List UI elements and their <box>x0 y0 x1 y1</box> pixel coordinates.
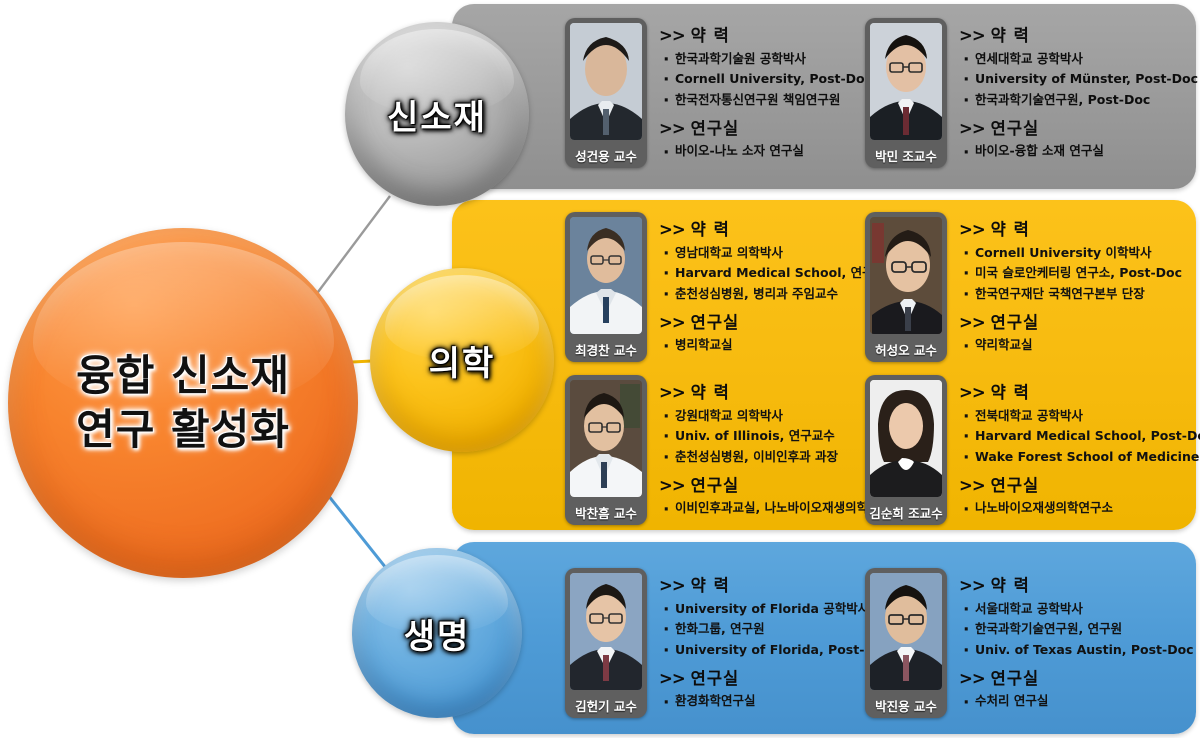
list-item: 서울대학교 공학박사 <box>959 599 1194 619</box>
lab-heading: >>연구실 <box>959 115 1198 139</box>
professor-info: >>약 력 연세대학교 공학박사 University of Münster, … <box>947 18 1198 166</box>
list-item: Harvard Medical School, Post-Doc <box>959 426 1200 446</box>
list-item: 수처리 연구실 <box>959 692 1194 711</box>
photo-frame: 최경찬 교수 <box>565 212 647 362</box>
list-item: Cornell University, Post-Doc <box>659 69 872 89</box>
chevron-icon: >> <box>659 26 685 45</box>
professor-photo <box>870 23 942 140</box>
professor-photo <box>870 573 942 690</box>
chevron-icon: >> <box>959 26 985 45</box>
list-item: 환경화학연구실 <box>659 692 891 711</box>
chevron-icon: >> <box>659 669 685 688</box>
list-item: 약리학교실 <box>959 336 1182 355</box>
list-item: University of Münster, Post-Doc <box>959 69 1198 89</box>
professor-name: 허성오 교수 <box>865 336 947 362</box>
portrait-icon <box>870 380 942 497</box>
list-item: 바이오-나노 소자 연구실 <box>659 142 872 161</box>
lab-list: 나노바이오재생의학연구소 <box>959 499 1200 518</box>
chevron-icon: >> <box>659 383 685 402</box>
professor-info: >>약 력 영남대학교 의학박사 Harvard Medical School,… <box>647 212 897 360</box>
photo-frame: 박민 조교수 <box>865 18 947 168</box>
chevron-icon: >> <box>959 669 985 688</box>
list-item: 춘천성심병원, 병리과 주임교수 <box>659 284 897 304</box>
portrait-icon <box>570 380 642 497</box>
list-item: 연세대학교 공학박사 <box>959 49 1198 69</box>
category-label-uihak: 의학 <box>429 336 496 385</box>
professor-card[interactable]: 박찬흠 교수 >>약 력 강원대학교 의학박사 Univ. of Illinoi… <box>565 375 903 525</box>
lab-list: 환경화학연구실 <box>659 692 891 711</box>
professor-photo <box>570 23 642 140</box>
professor-name: 박민 조교수 <box>865 142 947 168</box>
lab-list: 수처리 연구실 <box>959 692 1194 711</box>
professor-photo <box>570 573 642 690</box>
list-item: 한국과학기술원 공학박사 <box>659 49 872 69</box>
hub-circle[interactable]: 융합 신소재 연구 활성화 <box>8 228 358 578</box>
bio-heading: >>약 력 <box>959 379 1200 403</box>
list-item: 영남대학교 의학박사 <box>659 243 897 263</box>
lab-list: 약리학교실 <box>959 336 1182 355</box>
chevron-icon: >> <box>659 119 685 138</box>
list-item: 한국연구재단 국책연구본부 단장 <box>959 284 1182 304</box>
list-item: Univ. of Texas Austin, Post-Doc <box>959 640 1194 660</box>
professor-photo <box>570 217 642 334</box>
bio-list: 전북대학교 공학박사 Harvard Medical School, Post-… <box>959 406 1200 467</box>
bio-list: Cornell University 이학박사 미국 슬로안케터링 연구소, P… <box>959 243 1182 304</box>
professor-name: 김헌기 교수 <box>565 692 647 718</box>
professor-name: 김순희 조교수 <box>865 499 947 525</box>
professor-name: 성건용 교수 <box>565 142 647 168</box>
portrait-icon <box>570 573 642 690</box>
chevron-icon: >> <box>659 576 685 595</box>
professor-card[interactable]: 허성오 교수 >>약 력 Cornell University 이학박사 미국 … <box>865 212 1182 362</box>
category-circle-uihak[interactable]: 의학 <box>370 268 554 452</box>
list-item: Wake Forest School of Medicine, Post-Doc <box>959 447 1200 467</box>
bio-heading: >>약 력 <box>659 22 872 46</box>
connector-to-sinsojae-icon <box>312 196 390 300</box>
list-item: 병리학교실 <box>659 336 897 355</box>
professor-card[interactable]: 박진용 교수 >>약 력 서울대학교 공학박사 한국과학기술연구원, 연구원 U… <box>865 568 1194 718</box>
portrait-icon <box>570 23 642 140</box>
photo-frame: 김순희 조교수 <box>865 375 947 525</box>
chevron-icon: >> <box>959 313 985 332</box>
chevron-icon: >> <box>959 119 985 138</box>
list-item: Cornell University 이학박사 <box>959 243 1182 263</box>
chevron-icon: >> <box>659 220 685 239</box>
professor-card[interactable]: 박민 조교수 >>약 력 연세대학교 공학박사 University of Mü… <box>865 18 1198 168</box>
bio-heading: >>약 력 <box>659 216 897 240</box>
professor-photo <box>870 380 942 497</box>
lab-heading: >>연구실 <box>659 115 872 139</box>
portrait-icon <box>870 573 942 690</box>
list-item: 미국 슬로안케터링 연구소, Post-Doc <box>959 263 1182 283</box>
bio-heading: >>약 력 <box>659 572 891 596</box>
category-label-saengmyeong: 생명 <box>404 609 471 658</box>
list-item: Harvard Medical School, 연구교수 <box>659 263 897 283</box>
list-item: 한국과학기술연구원, 연구원 <box>959 619 1194 639</box>
professor-name: 최경찬 교수 <box>565 336 647 362</box>
lab-heading: >>연구실 <box>659 309 897 333</box>
category-circle-sinsojae[interactable]: 신소재 <box>345 22 529 206</box>
portrait-icon <box>870 217 942 334</box>
bio-list: 연세대학교 공학박사 University of Münster, Post-D… <box>959 49 1198 110</box>
photo-frame: 김헌기 교수 <box>565 568 647 718</box>
lab-heading: >>연구실 <box>659 665 891 689</box>
professor-info: >>약 력 University of Florida 공학박사 한화그룹, 연… <box>647 568 891 716</box>
professor-card[interactable]: 김헌기 교수 >>약 력 University of Florida 공학박사 … <box>565 568 891 718</box>
photo-frame: 허성오 교수 <box>865 212 947 362</box>
diagram-canvas: 융합 신소재 연구 활성화 신소재 의학 생명 성건용 교수 <box>0 0 1200 738</box>
lab-list: 바이오-융합 소재 연구실 <box>959 142 1198 161</box>
lab-heading: >>연구실 <box>959 472 1200 496</box>
professor-card[interactable]: 성건용 교수 >>약 력 한국과학기술원 공학박사 Cornell Univer… <box>565 18 872 168</box>
category-label-sinsojae: 신소재 <box>387 90 487 139</box>
category-circle-saengmyeong[interactable]: 생명 <box>352 548 522 718</box>
photo-frame: 박찬흠 교수 <box>565 375 647 525</box>
photo-frame: 성건용 교수 <box>565 18 647 168</box>
chevron-icon: >> <box>659 313 685 332</box>
professor-photo <box>870 217 942 334</box>
list-item: University of Florida 공학박사 <box>659 599 891 619</box>
bio-list: 한국과학기술원 공학박사 Cornell University, Post-Do… <box>659 49 872 110</box>
list-item: 전북대학교 공학박사 <box>959 406 1200 426</box>
professor-info: >>약 력 한국과학기술원 공학박사 Cornell University, P… <box>647 18 872 166</box>
bio-list: University of Florida 공학박사 한화그룹, 연구원 Uni… <box>659 599 891 660</box>
lab-list: 병리학교실 <box>659 336 897 355</box>
bio-list: 영남대학교 의학박사 Harvard Medical School, 연구교수 … <box>659 243 897 304</box>
professor-info: >>약 력 서울대학교 공학박사 한국과학기술연구원, 연구원 Univ. of… <box>947 568 1194 716</box>
list-item: 한국전자통신연구원 책임연구원 <box>659 90 872 110</box>
bio-heading: >>약 력 <box>959 216 1182 240</box>
chevron-icon: >> <box>659 476 685 495</box>
portrait-icon <box>570 217 642 334</box>
portrait-icon <box>870 23 942 140</box>
list-item: 한화그룹, 연구원 <box>659 619 891 639</box>
chevron-icon: >> <box>959 476 985 495</box>
bio-heading: >>약 력 <box>959 22 1198 46</box>
lab-list: 바이오-나노 소자 연구실 <box>659 142 872 161</box>
professor-photo <box>570 380 642 497</box>
bio-list: 서울대학교 공학박사 한국과학기술연구원, 연구원 Univ. of Texas… <box>959 599 1194 660</box>
list-item: 바이오-융합 소재 연구실 <box>959 142 1198 161</box>
professor-name: 박진용 교수 <box>865 692 947 718</box>
photo-frame: 박진용 교수 <box>865 568 947 718</box>
professor-info: >>약 력 Cornell University 이학박사 미국 슬로안케터링 … <box>947 212 1182 360</box>
professor-info: >>약 력 전북대학교 공학박사 Harvard Medical School,… <box>947 375 1200 523</box>
chevron-icon: >> <box>959 576 985 595</box>
bio-heading: >>약 력 <box>959 572 1194 596</box>
chevron-icon: >> <box>959 220 985 239</box>
list-item: 한국과학기술연구원, Post-Doc <box>959 90 1198 110</box>
lab-heading: >>연구실 <box>959 309 1182 333</box>
hub-label: 융합 신소재 연구 활성화 <box>76 349 290 457</box>
professor-card[interactable]: 최경찬 교수 >>약 력 영남대학교 의학박사 Harvard Medical … <box>565 212 897 362</box>
list-item: 나노바이오재생의학연구소 <box>959 499 1200 518</box>
lab-heading: >>연구실 <box>959 665 1194 689</box>
chevron-icon: >> <box>959 383 985 402</box>
professor-name: 박찬흠 교수 <box>565 499 647 525</box>
professor-card[interactable]: 김순희 조교수 >>약 력 전북대학교 공학박사 Harvard Medical… <box>865 375 1200 525</box>
list-item: University of Florida, Post-Doc <box>659 640 891 660</box>
